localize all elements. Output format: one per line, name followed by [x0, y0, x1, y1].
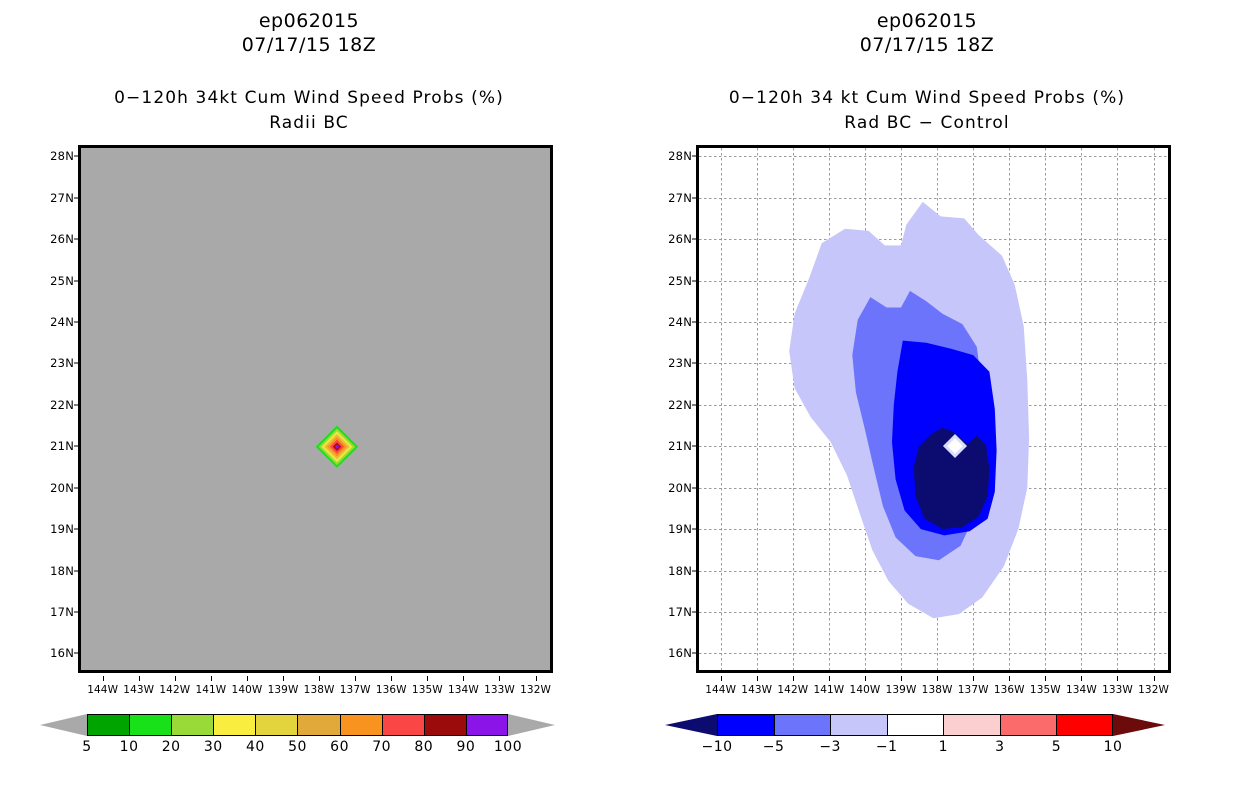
- colorbar-swatch[interactable]: [830, 714, 887, 736]
- y-axis-label: 23N: [50, 356, 74, 370]
- x-axis-label: 144W: [87, 684, 118, 696]
- y-axis-tick: [692, 612, 697, 613]
- figure-root: ep062015 07/17/15 18Z 0−120h 34kt Cum Wi…: [0, 0, 1236, 800]
- x-axis-tick: [463, 676, 464, 681]
- y-axis-tick: [74, 197, 79, 198]
- y-axis-left: 28N27N26N25N24N23N22N21N20N19N18N17N16N: [28, 145, 74, 673]
- x-ticks-left: [78, 676, 553, 682]
- colorbar-swatch[interactable]: [774, 714, 831, 736]
- x-axis-tick: [499, 676, 500, 681]
- x-axis-tick: [721, 676, 722, 681]
- x-axis-tick: [355, 676, 356, 681]
- y-axis-tick: [74, 529, 79, 530]
- x-axis-left: 144W143W142W141W140W139W138W137W136W135W…: [78, 679, 553, 705]
- colorbar-tick-label: 10: [120, 739, 139, 755]
- y-axis-tick: [692, 239, 697, 240]
- colorbar-swatch[interactable]: [213, 714, 255, 736]
- y-axis-tick: [74, 570, 79, 571]
- y-axis-label: 17N: [50, 605, 74, 619]
- x-axis-tick: [1117, 676, 1118, 681]
- x-axis-tick: [901, 676, 902, 681]
- y-axis-label: 17N: [668, 605, 692, 619]
- colorbar-tick-label: 70: [372, 739, 391, 755]
- x-axis-label: 137W: [958, 684, 989, 696]
- y-ticks-right: [692, 145, 698, 673]
- y-axis-label: 18N: [50, 564, 74, 578]
- x-axis-tick: [247, 676, 248, 681]
- y-axis-label: 19N: [668, 522, 692, 536]
- y-axis-tick: [692, 487, 697, 488]
- plot-subtitle-left: Radii BC: [0, 113, 618, 133]
- colorbar-swatch[interactable]: [1000, 714, 1057, 736]
- y-ticks-left: [74, 145, 80, 673]
- x-axis-label: 135W: [1030, 684, 1061, 696]
- x-axis-label: 144W: [705, 684, 736, 696]
- y-axis-tick: [74, 446, 79, 447]
- x-axis-tick: [829, 676, 830, 681]
- x-axis-label: 132W: [520, 684, 551, 696]
- x-axis-label: 141W: [195, 684, 226, 696]
- y-axis-right: 28N27N26N25N24N23N22N21N20N19N18N17N16N: [646, 145, 692, 673]
- y-axis-label: 16N: [50, 646, 74, 660]
- y-axis-tick: [74, 653, 79, 654]
- y-axis-label: 25N: [668, 274, 692, 288]
- colorbar-low-cap: [40, 714, 87, 736]
- x-axis-tick: [211, 676, 212, 681]
- y-axis-tick: [692, 197, 697, 198]
- colorbar-swatch[interactable]: [717, 714, 774, 736]
- y-axis-label: 21N: [50, 439, 74, 453]
- y-axis-tick: [692, 653, 697, 654]
- colorbar-swatch[interactable]: [171, 714, 213, 736]
- x-axis-tick: [427, 676, 428, 681]
- datetime-left: 07/17/15 18Z: [0, 34, 618, 56]
- storm-id-left: ep062015: [0, 10, 618, 32]
- colorbar-tick-label: 1: [939, 739, 948, 755]
- colorbar-swatch[interactable]: [340, 714, 382, 736]
- x-axis-label: 143W: [123, 684, 154, 696]
- x-axis-label: 136W: [376, 684, 407, 696]
- probability-colorbar[interactable]: 5102030405060708090100: [40, 712, 555, 768]
- x-axis-label: 136W: [994, 684, 1025, 696]
- colorbar-swatch[interactable]: [943, 714, 1000, 736]
- y-axis-label: 23N: [668, 356, 692, 370]
- x-axis-tick: [1009, 676, 1010, 681]
- x-axis-tick: [757, 676, 758, 681]
- y-axis-tick: [692, 156, 697, 157]
- x-axis-tick: [103, 676, 104, 681]
- colorbar-high-cap: [508, 714, 555, 736]
- storm-center-diamond: [336, 446, 337, 447]
- x-axis-tick: [391, 676, 392, 681]
- x-ticks-right: [696, 676, 1171, 682]
- colorbar-tick-label: 10: [1104, 739, 1123, 755]
- x-axis-tick: [139, 676, 140, 681]
- colorbar-strip[interactable]: [87, 714, 508, 736]
- y-axis-tick: [74, 487, 79, 488]
- colorbar-swatch[interactable]: [1056, 714, 1113, 736]
- colorbar-high-cap: [1113, 714, 1165, 736]
- y-axis-label: 28N: [668, 149, 692, 163]
- colorbar-tick-label: 90: [456, 739, 475, 755]
- x-axis-label: 134W: [1066, 684, 1097, 696]
- x-axis-tick: [937, 676, 938, 681]
- x-axis-tick: [536, 676, 537, 681]
- y-axis-label: 20N: [50, 481, 74, 495]
- y-axis-label: 25N: [50, 274, 74, 288]
- storm-id-right: ep062015: [618, 10, 1236, 32]
- x-axis-label: 140W: [850, 684, 881, 696]
- colorbar-swatch[interactable]: [424, 714, 466, 736]
- y-axis-tick: [692, 280, 697, 281]
- x-axis-tick: [1045, 676, 1046, 681]
- difference-colorbar[interactable]: −10−5−3−113510: [665, 712, 1165, 768]
- x-axis-tick: [865, 676, 866, 681]
- colorbar-tick-label: 3: [995, 739, 1004, 755]
- x-axis-label: 139W: [886, 684, 917, 696]
- y-axis-tick: [692, 446, 697, 447]
- y-axis-label: 27N: [50, 191, 74, 205]
- colorbar-tick-label: 60: [330, 739, 349, 755]
- colorbar-tick-label: 80: [414, 739, 433, 755]
- y-axis-tick: [692, 363, 697, 364]
- y-axis-label: 22N: [50, 398, 74, 412]
- colorbar-tick-label: 30: [204, 739, 223, 755]
- colorbar-low-cap: [665, 714, 717, 736]
- y-axis-label: 18N: [668, 564, 692, 578]
- x-axis-label: 143W: [741, 684, 772, 696]
- y-axis-tick: [692, 404, 697, 405]
- colorbar-swatch[interactable]: [466, 714, 508, 736]
- y-axis-label: 24N: [50, 315, 74, 329]
- x-axis-label: 141W: [813, 684, 844, 696]
- y-axis-tick: [74, 280, 79, 281]
- plot-title-right: 0−120h 34 kt Cum Wind Speed Probs (%): [618, 88, 1236, 108]
- x-axis-tick: [319, 676, 320, 681]
- plot-area-rad-bc-control[interactable]: [696, 145, 1171, 673]
- colorbar-swatch[interactable]: [382, 714, 424, 736]
- x-axis-tick: [175, 676, 176, 681]
- colorbar-tick-label: −3: [819, 739, 841, 755]
- colorbar-tick-label: 20: [162, 739, 181, 755]
- colorbar-swatch[interactable]: [255, 714, 297, 736]
- colorbar-tick-label: −5: [763, 739, 785, 755]
- y-axis-label: 19N: [50, 522, 74, 536]
- x-axis-label: 133W: [1102, 684, 1133, 696]
- x-axis-label: 134W: [448, 684, 479, 696]
- contour-field: [699, 148, 1168, 670]
- x-axis-label: 142W: [159, 684, 190, 696]
- plot-subtitle-right: Rad BC − Control: [618, 113, 1236, 133]
- y-axis-label: 20N: [668, 481, 692, 495]
- y-axis-label: 21N: [668, 439, 692, 453]
- colorbar-strip[interactable]: [717, 714, 1113, 736]
- x-axis-label: 137W: [340, 684, 371, 696]
- y-axis-label: 28N: [50, 149, 74, 163]
- y-axis-tick: [74, 404, 79, 405]
- x-axis-label: 142W: [777, 684, 808, 696]
- y-axis-label: 26N: [50, 232, 74, 246]
- y-axis-tick: [74, 363, 79, 364]
- x-axis-tick: [1081, 676, 1082, 681]
- colorbar-swatch[interactable]: [887, 714, 944, 736]
- x-axis-label: 135W: [412, 684, 443, 696]
- y-axis-tick: [74, 612, 79, 613]
- colorbar-tick-label: 5: [82, 739, 91, 755]
- colorbar-tick-label: 5: [1052, 739, 1061, 755]
- y-axis-label: 26N: [668, 232, 692, 246]
- x-axis-label: 139W: [268, 684, 299, 696]
- x-axis-label: 140W: [232, 684, 263, 696]
- colorbar-tick-label: 40: [246, 739, 265, 755]
- y-axis-tick: [74, 322, 79, 323]
- colorbar-tick-label: −10: [701, 739, 732, 755]
- gridlines-left: [81, 148, 550, 670]
- x-axis-tick: [283, 676, 284, 681]
- colorbar-swatch[interactable]: [87, 714, 129, 736]
- y-axis-tick: [74, 239, 79, 240]
- plot-title-left: 0−120h 34kt Cum Wind Speed Probs (%): [0, 88, 618, 108]
- x-axis-tick: [1154, 676, 1155, 681]
- y-axis-tick: [692, 529, 697, 530]
- y-axis-tick: [692, 570, 697, 571]
- y-axis-label: 24N: [668, 315, 692, 329]
- colorbar-swatch[interactable]: [129, 714, 171, 736]
- y-axis-tick: [692, 322, 697, 323]
- x-axis-label: 138W: [304, 684, 335, 696]
- datetime-right: 07/17/15 18Z: [618, 34, 1236, 56]
- y-axis-label: 27N: [668, 191, 692, 205]
- colorbar-swatch[interactable]: [297, 714, 339, 736]
- colorbar-tick-label: 50: [288, 739, 307, 755]
- x-axis-tick: [793, 676, 794, 681]
- y-axis-label: 22N: [668, 398, 692, 412]
- x-axis-tick: [973, 676, 974, 681]
- x-axis-label: 132W: [1138, 684, 1169, 696]
- colorbar-tick-label: 100: [494, 739, 522, 755]
- y-axis-tick: [74, 156, 79, 157]
- x-axis-label: 133W: [484, 684, 515, 696]
- x-axis-right: 144W143W142W141W140W139W138W137W136W135W…: [696, 679, 1171, 705]
- x-axis-label: 138W: [922, 684, 953, 696]
- y-axis-label: 16N: [668, 646, 692, 660]
- colorbar-tick-label: −1: [876, 739, 898, 755]
- plot-area-radii-bc[interactable]: [78, 145, 553, 673]
